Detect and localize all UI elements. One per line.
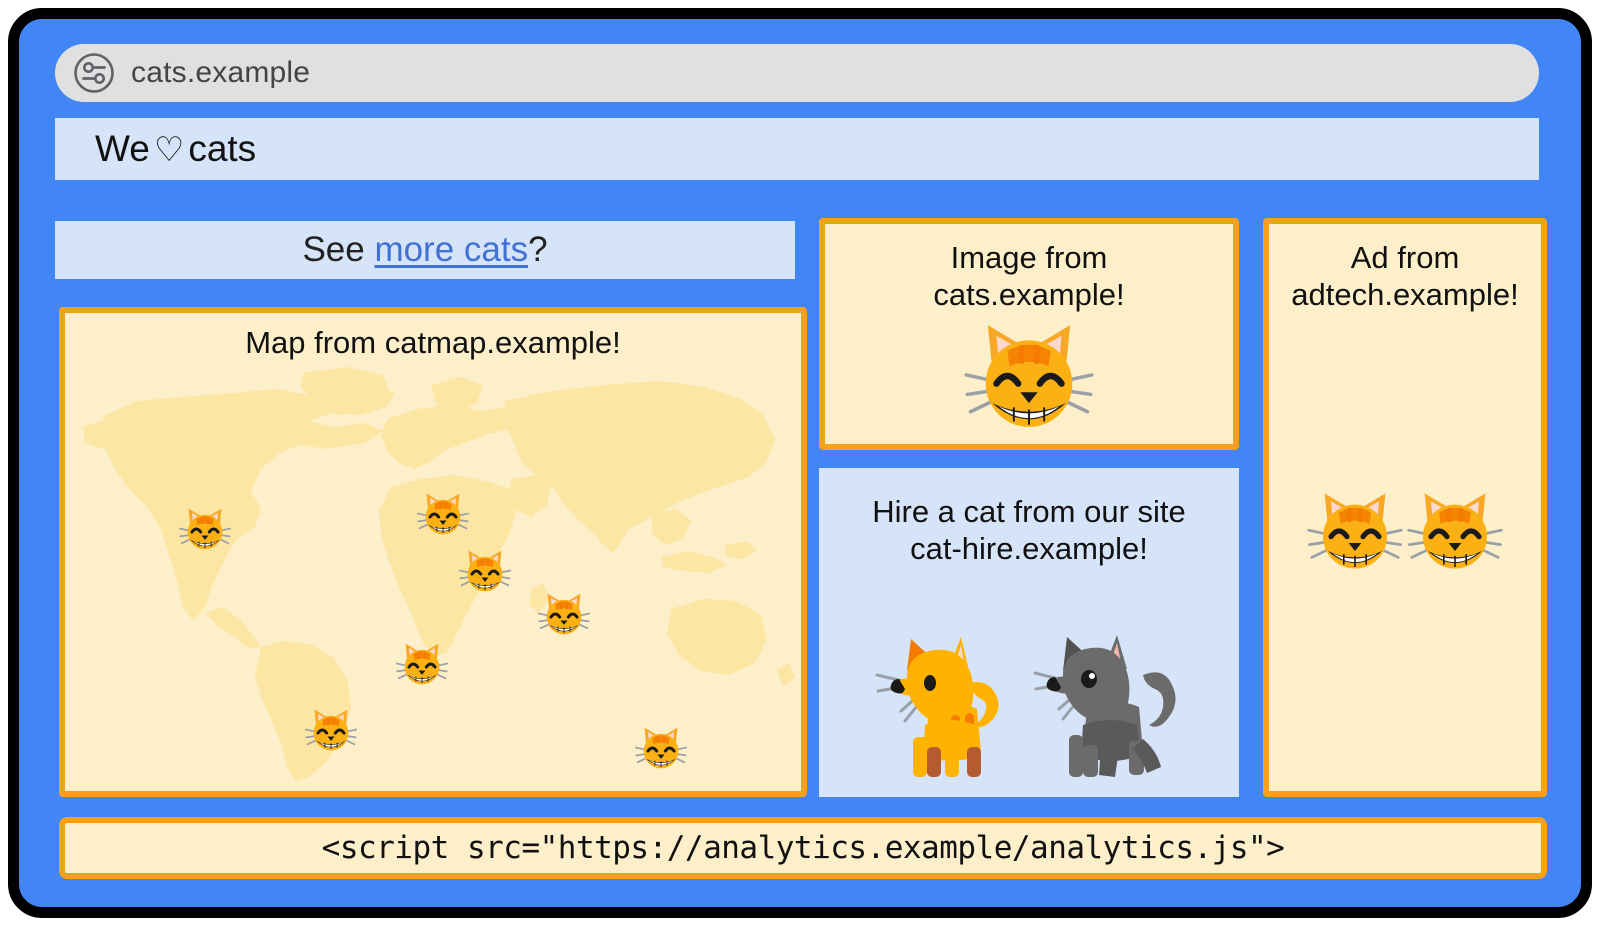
image-panel-title-line1: Image from xyxy=(825,240,1233,277)
world-map-svg xyxy=(65,357,801,787)
ad-panel-title-line2: adtech.example! xyxy=(1269,277,1541,314)
grinning-cat-face-icon xyxy=(635,724,687,772)
more-cats-link[interactable]: more cats xyxy=(374,230,528,269)
headline-text: We♡cats xyxy=(95,128,256,170)
grinning-cat-face-icon xyxy=(1407,486,1503,576)
hire-panel[interactable]: Hire a cat from our site cat-hire.exampl… xyxy=(819,468,1239,797)
grinning-cat-face-icon xyxy=(964,316,1094,436)
orange-cat-icon xyxy=(873,629,1019,779)
browser-window-frame: cats.example We♡cats See more cats? Map … xyxy=(8,8,1592,918)
map-marker[interactable] xyxy=(635,724,687,772)
grinning-cat-face-icon xyxy=(179,505,231,553)
gray-cat-icon xyxy=(1033,629,1185,779)
map-panel-title: Map from catmap.example! xyxy=(65,313,801,362)
hire-panel-title: Hire a cat from our site cat-hire.exampl… xyxy=(819,468,1239,567)
link-prefix: See xyxy=(302,230,374,269)
map-panel[interactable]: Map from catmap.example! xyxy=(59,307,807,797)
grinning-cat-face-icon xyxy=(1307,486,1403,576)
map-marker[interactable] xyxy=(417,490,469,538)
image-panel-title: Image from cats.example! xyxy=(825,224,1233,313)
map-marker[interactable] xyxy=(305,706,357,754)
ad-panel[interactable]: Ad from adtech.example! xyxy=(1263,218,1547,797)
image-panel-title-line2: cats.example! xyxy=(825,277,1233,314)
link-banner: See more cats? xyxy=(55,221,795,279)
grinning-cat-face-icon xyxy=(305,706,357,754)
ad-cats-row xyxy=(1269,486,1541,576)
hire-cats-row xyxy=(819,629,1239,779)
ad-panel-title-line1: Ad from xyxy=(1269,240,1541,277)
map-marker[interactable] xyxy=(459,547,511,595)
headline-prefix: We xyxy=(95,128,150,169)
headline-banner: We♡cats xyxy=(55,118,1539,180)
map-marker[interactable] xyxy=(538,590,590,638)
link-line: See more cats? xyxy=(302,230,547,270)
script-tag-code: <script src="https://analytics.example/a… xyxy=(322,830,1285,866)
map-marker[interactable] xyxy=(396,640,448,688)
image-panel[interactable]: Image from cats.example! xyxy=(819,218,1239,450)
hire-panel-title-line1: Hire a cat from our site xyxy=(819,494,1239,531)
grinning-cat-face-icon xyxy=(417,490,469,538)
headline-suffix: cats xyxy=(188,128,256,169)
map-marker[interactable] xyxy=(179,505,231,553)
heart-icon: ♡ xyxy=(150,131,188,169)
grinning-cat-face-icon xyxy=(459,547,511,595)
ad-panel-title: Ad from adtech.example! xyxy=(1269,224,1541,313)
hire-panel-title-line2: cat-hire.example! xyxy=(819,531,1239,568)
world-landmasses xyxy=(83,367,795,781)
page-content: We♡cats See more cats? Map from catmap.e… xyxy=(19,19,1581,907)
grinning-cat-face-icon xyxy=(396,640,448,688)
link-suffix: ? xyxy=(528,230,547,269)
script-footer-panel: <script src="https://analytics.example/a… xyxy=(59,817,1547,879)
grinning-cat-face-icon xyxy=(538,590,590,638)
world-map[interactable] xyxy=(65,357,801,787)
